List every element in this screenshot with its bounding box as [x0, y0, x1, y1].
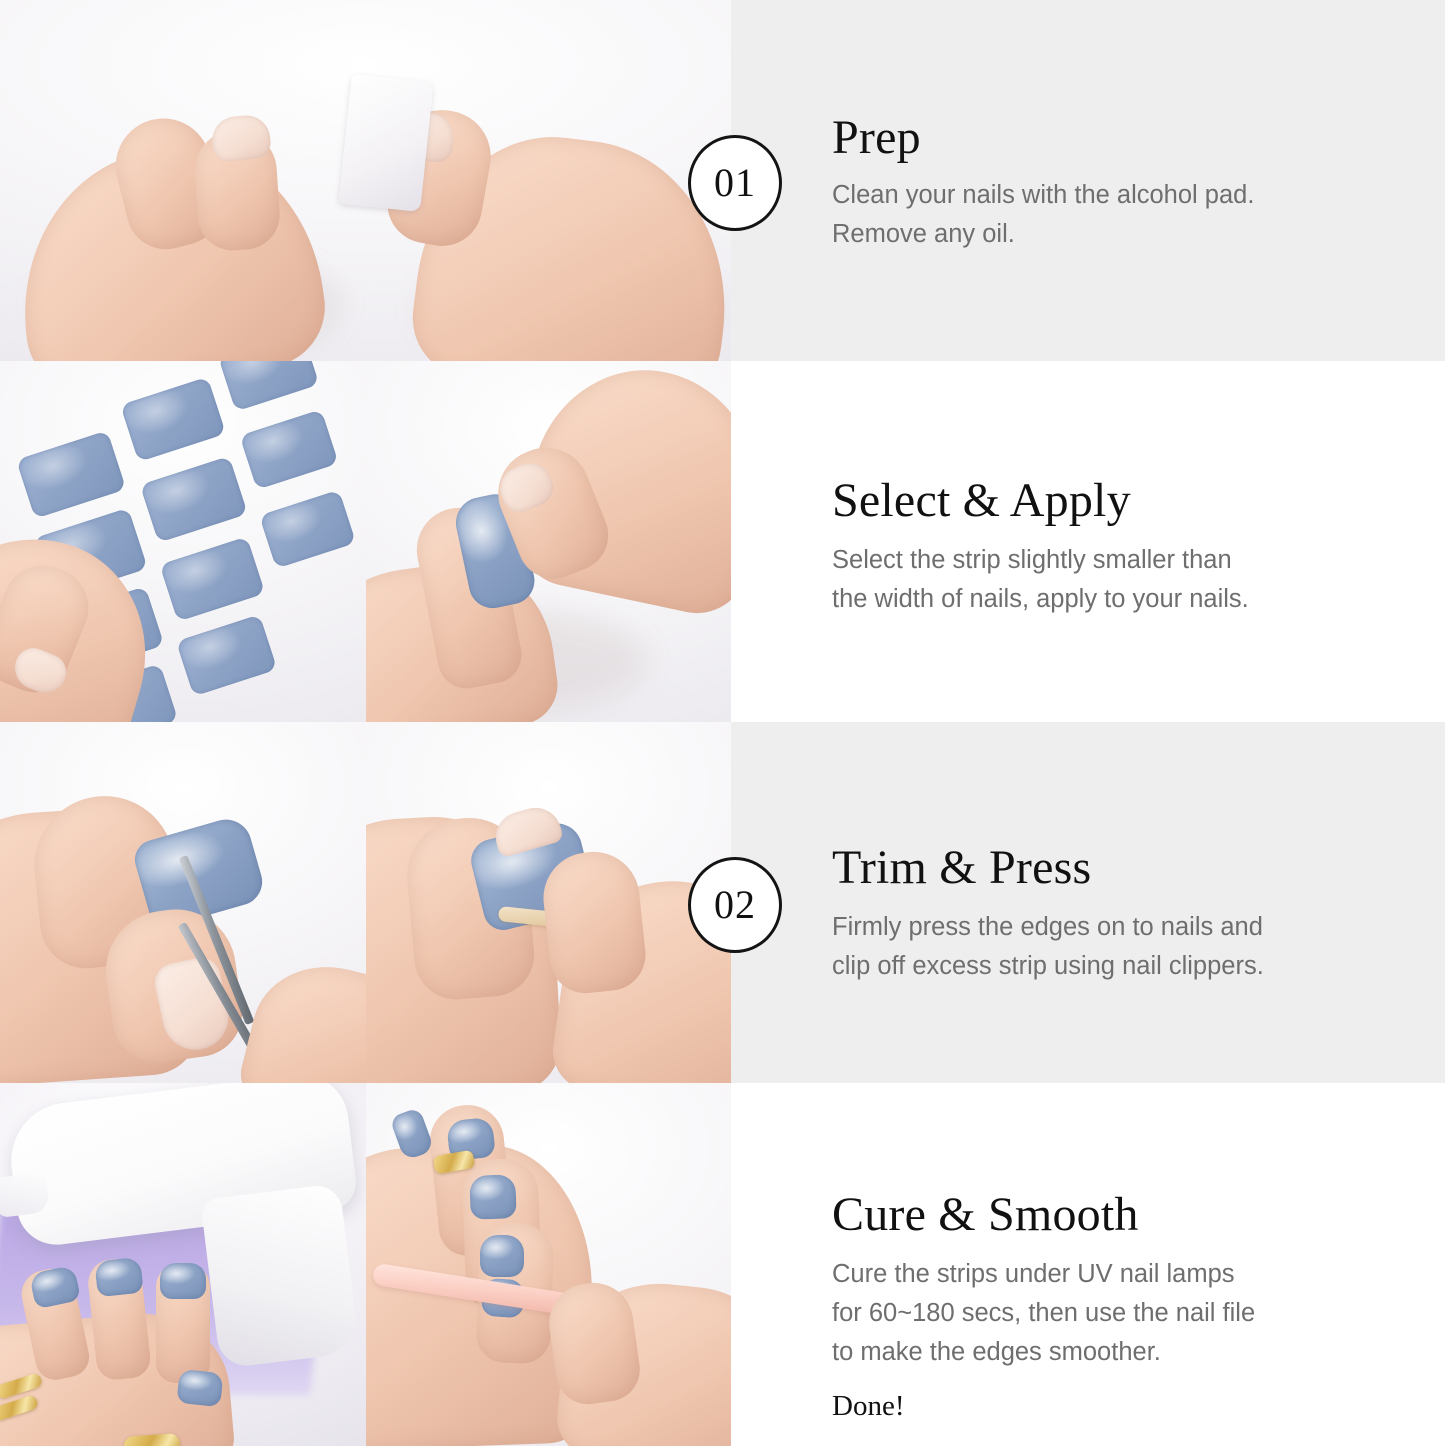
- nail-strip: [120, 377, 226, 462]
- step-title-01: Prep: [832, 110, 921, 165]
- step-title-04: Cure & Smooth: [832, 1187, 1139, 1242]
- blue-nail: [94, 1257, 144, 1298]
- step-row-01: 01 Prep Clean your nails with the alcoho…: [0, 0, 1445, 361]
- step-number-01: 01: [714, 163, 756, 203]
- text-column-02: 02 Select & Apply Select the strip sligh…: [731, 361, 1445, 722]
- photo-column-03: [0, 722, 731, 1083]
- step-body-line: clip off excess strip using nail clipper…: [832, 947, 1264, 986]
- nail-strip: [259, 490, 356, 569]
- blue-nail: [160, 1263, 206, 1299]
- photo-trim-with-scissors: [0, 722, 366, 1083]
- step-body-line: Remove any oil.: [832, 215, 1254, 254]
- text-column-01: 01 Prep Clean your nails with the alcoho…: [731, 0, 1445, 361]
- step-row-02: 02 Select & Apply Select the strip sligh…: [0, 361, 1445, 722]
- nail-strip: [239, 409, 338, 490]
- step-body-line: Clean your nails with the alcohol pad.: [832, 176, 1254, 215]
- step-body-02: Select the strip slightly smaller than t…: [832, 541, 1249, 619]
- nail-strip: [218, 361, 320, 412]
- photo-prep-alcohol-pad: [0, 0, 731, 361]
- step-body-line: Firmly press the edges on to nails and: [832, 908, 1264, 947]
- text-column-04: 04 Cure & Smooth Cure the strips under U…: [731, 1083, 1445, 1446]
- step-body-line: to make the edges smoother.: [832, 1333, 1255, 1372]
- step-badge-01: 01: [688, 135, 782, 231]
- step-title-03: Trim & Press: [832, 840, 1091, 895]
- step-body-01: Clean your nails with the alcohol pad. R…: [832, 176, 1254, 254]
- step-title-02: Select & Apply: [832, 473, 1131, 528]
- alcohol-pad: [338, 74, 433, 212]
- text-column-03: 03 Trim & Press Firmly press the edges o…: [731, 722, 1445, 1083]
- photo-column-02: [0, 361, 731, 722]
- blue-nail: [469, 1174, 517, 1220]
- step-body-line: for 60~180 secs, then use the nail file: [832, 1294, 1255, 1333]
- step-body-line: Cure the strips under UV nail lamps: [832, 1255, 1255, 1294]
- step-body-line: Select the strip slightly smaller than: [832, 541, 1249, 580]
- step-row-04: 04 Cure & Smooth Cure the strips under U…: [0, 1083, 1445, 1446]
- photo-column-04: [0, 1083, 731, 1446]
- instruction-infographic: 01 Prep Clean your nails with the alcoho…: [0, 0, 1445, 1446]
- photo-apply-strip: [366, 361, 732, 722]
- blue-nail: [480, 1235, 524, 1277]
- nail-strip: [176, 614, 278, 696]
- step-number-02: 02: [714, 885, 756, 925]
- photo-nail-file: [366, 1083, 732, 1446]
- photo-uv-lamp: [0, 1083, 366, 1446]
- step-body-line: the width of nails, apply to your nails.: [832, 580, 1249, 619]
- blue-nail: [176, 1369, 223, 1407]
- nail-strip: [16, 430, 126, 519]
- step-body-03: Firmly press the edges on to nails and c…: [832, 908, 1264, 986]
- done-label: Done!: [832, 1390, 904, 1423]
- step-body-04: Cure the strips under UV nail lamps for …: [832, 1255, 1255, 1372]
- step-badge-02: 02: [688, 857, 782, 953]
- nail-strip: [159, 536, 265, 621]
- photo-column-01: [0, 0, 731, 361]
- photo-press-with-stick: [366, 722, 732, 1083]
- nail-strip: [140, 456, 248, 543]
- uv-lamp-leg-right: [200, 1183, 360, 1369]
- photo-strip-sheet: [0, 361, 366, 722]
